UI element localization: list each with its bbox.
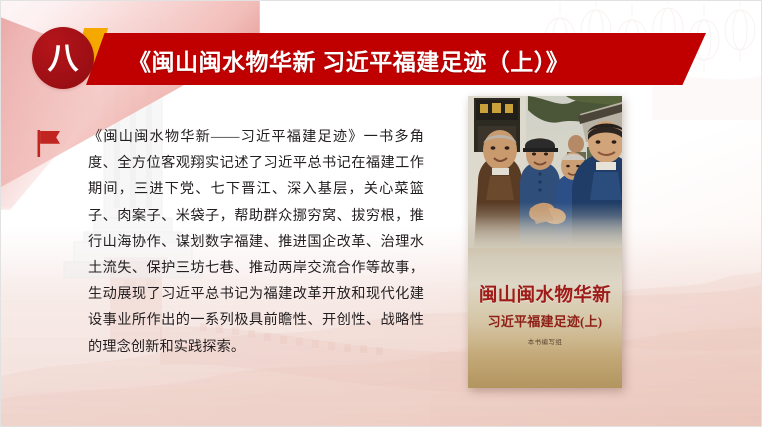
book-author-line: 本书编写组 (468, 336, 622, 346)
book-subtitle: 习近平福建足迹(上) (468, 311, 622, 330)
red-flag-icon (36, 128, 62, 158)
page-title: 《闽山闽水物华新 习近平福建足迹（上）》 (128, 43, 569, 77)
book-title: 闽山闽水物华新 (468, 281, 622, 307)
section-number-badge: 八 (32, 27, 94, 89)
section-number-label: 八 (48, 43, 79, 74)
slide-root: 八 《闽山闽水物华新 习近平福建足迹（上）》 《闽山闽水物华新——习近平福建足迹… (0, 0, 762, 427)
slide-header: 八 《闽山闽水物华新 习近平福建足迹（上）》 (0, 0, 762, 112)
body-paragraph: 《闽山闽水物华新——习近平福建足迹》一书多角度、全方位客观翔实记述了习近平总书记… (88, 124, 424, 360)
book-cover: 闽山闽水物华新 习近平福建足迹(上) 本书编写组 (468, 96, 622, 388)
